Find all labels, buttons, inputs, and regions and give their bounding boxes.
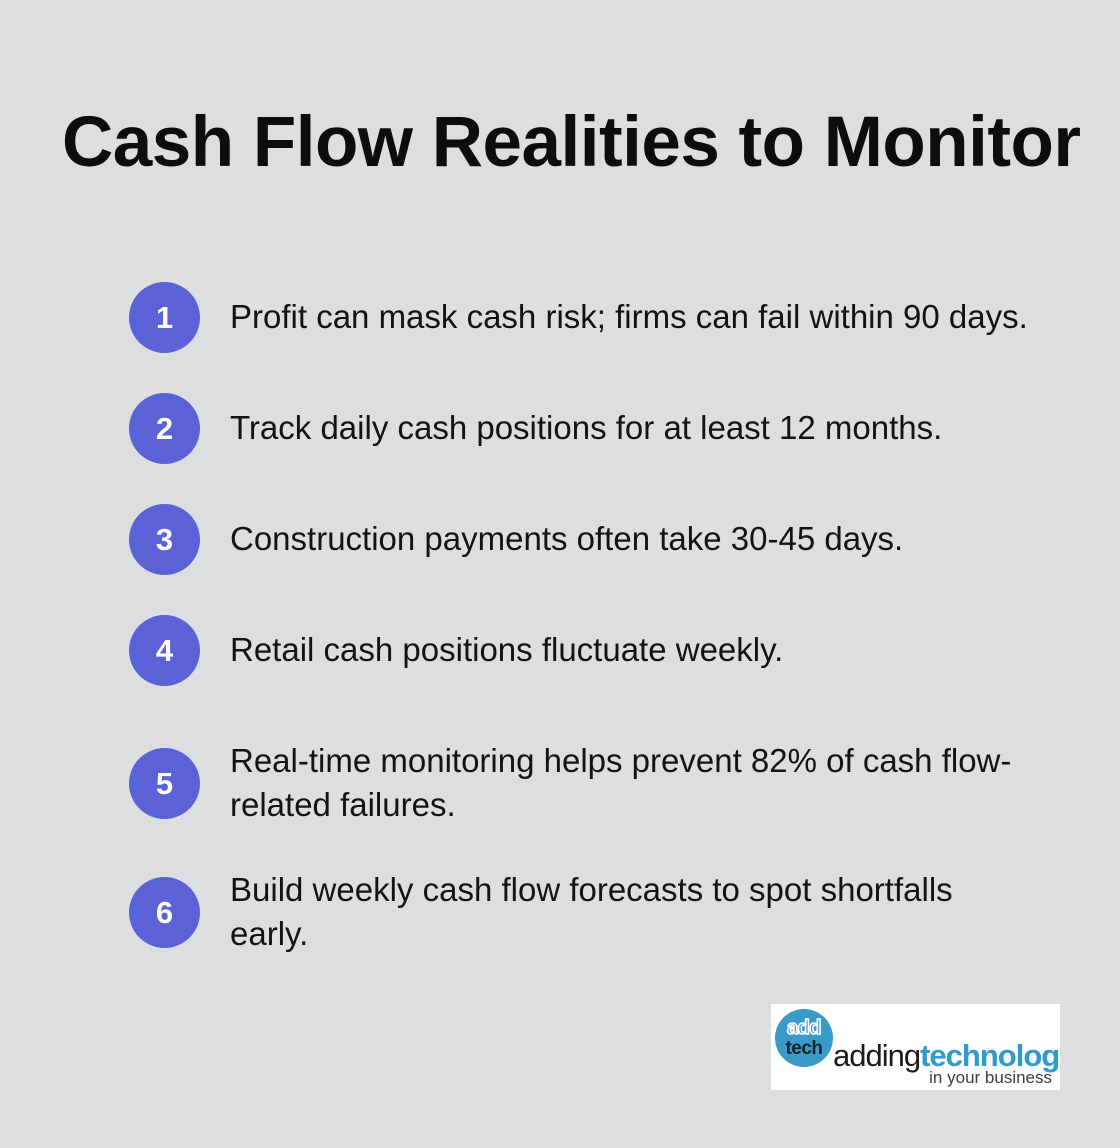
list-item-text: Retail cash positions fluctuate weekly. [230, 615, 1030, 672]
logo-inner: add tech addingtechnology® in your busin… [771, 1004, 1060, 1090]
company-logo: add tech addingtechnology® in your busin… [771, 1004, 1060, 1090]
list-item: 5 Real-time monitoring helps prevent 82%… [129, 726, 1069, 827]
logo-mark-add-text: add [775, 1018, 833, 1038]
list-item-text: Build weekly cash flow forecasts to spot… [230, 855, 1030, 956]
logo-mark-tech-text: tech [775, 1039, 833, 1058]
list-item-number-badge: 1 [129, 282, 200, 353]
addtech-circle-icon: add tech [775, 1009, 833, 1067]
page-title: Cash Flow Realities to Monitor [62, 106, 1052, 181]
list-item-text: Track daily cash positions for at least … [230, 393, 1030, 450]
list-item-number-badge: 4 [129, 615, 200, 686]
list-item: 6 Build weekly cash flow forecasts to sp… [129, 855, 1069, 956]
list-item-text: Construction payments often take 30-45 d… [230, 504, 1030, 561]
list-item-number-badge: 6 [129, 877, 200, 948]
list-item: 3 Construction payments often take 30-45… [129, 504, 1069, 575]
list-item: 4 Retail cash positions fluctuate weekly… [129, 615, 1069, 686]
list-item-number-badge: 3 [129, 504, 200, 575]
logo-wordmark: addingtechnology® [833, 1040, 1060, 1071]
list-item-text: Real-time monitoring helps prevent 82% o… [230, 726, 1030, 827]
numbered-list: 1 Profit can mask cash risk; firms can f… [129, 282, 1069, 984]
list-item-number-badge: 5 [129, 748, 200, 819]
list-item: 2 Track daily cash positions for at leas… [129, 393, 1069, 464]
infographic-canvas: Cash Flow Realities to Monitor 1 Profit … [0, 0, 1120, 1148]
list-item-number-badge: 2 [129, 393, 200, 464]
list-item-text: Profit can mask cash risk; firms can fai… [230, 282, 1030, 339]
logo-wordmark-adding: adding [833, 1038, 920, 1073]
logo-tagline: in your business [929, 1069, 1052, 1086]
list-item: 1 Profit can mask cash risk; firms can f… [129, 282, 1069, 353]
